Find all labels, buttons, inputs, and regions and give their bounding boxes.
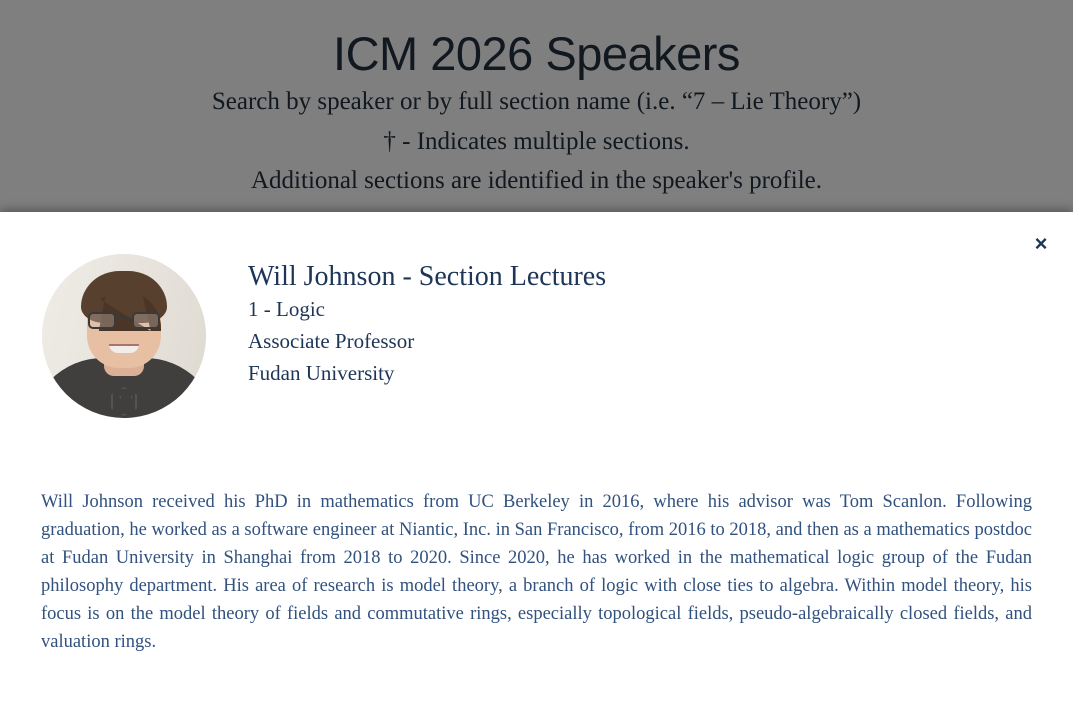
speaker-affiliation: Fudan University (248, 358, 606, 390)
avatar (42, 254, 206, 418)
glasses-right-lens (132, 312, 160, 329)
speaker-bio: Will Johnson received his PhD in mathema… (41, 488, 1032, 656)
close-icon[interactable]: × (1023, 230, 1059, 258)
glasses-bridge (116, 318, 132, 320)
speaker-name-heading: Will Johnson - Section Lectures (248, 260, 606, 294)
glasses-icon (88, 312, 160, 330)
speaker-detail-modal: Will Johnson - Section Lectures 1 - Logi… (0, 212, 1073, 721)
avatar-smile (109, 344, 139, 353)
glasses-left-lens (88, 312, 116, 329)
speaker-header-text: Will Johnson - Section Lectures 1 - Logi… (206, 254, 606, 390)
speaker-position: Associate Professor (248, 326, 606, 358)
modal-header: Will Johnson - Section Lectures 1 - Logi… (0, 254, 1073, 418)
speaker-section: 1 - Logic (248, 294, 606, 326)
